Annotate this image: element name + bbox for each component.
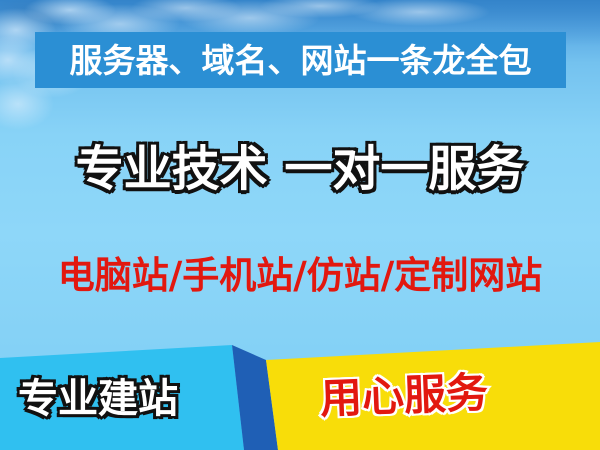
service-types-text: 电脑站/手机站/仿站/定制网站 [0,256,600,297]
headline-banner: 服务器、域名、网站一条龙全包 [35,32,566,88]
left-ribbon-label: 专业建站 [18,379,178,419]
right-ribbon-label: 用心服务 [319,372,489,420]
promo-poster: 服务器、域名、网站一条龙全包 专业技术 一对一服务 电脑站/手机站/仿站/定制网… [0,0,600,450]
main-slogan-text: 专业技术 一对一服务 [0,143,600,197]
headline-text: 服务器、域名、网站一条龙全包 [70,44,532,77]
